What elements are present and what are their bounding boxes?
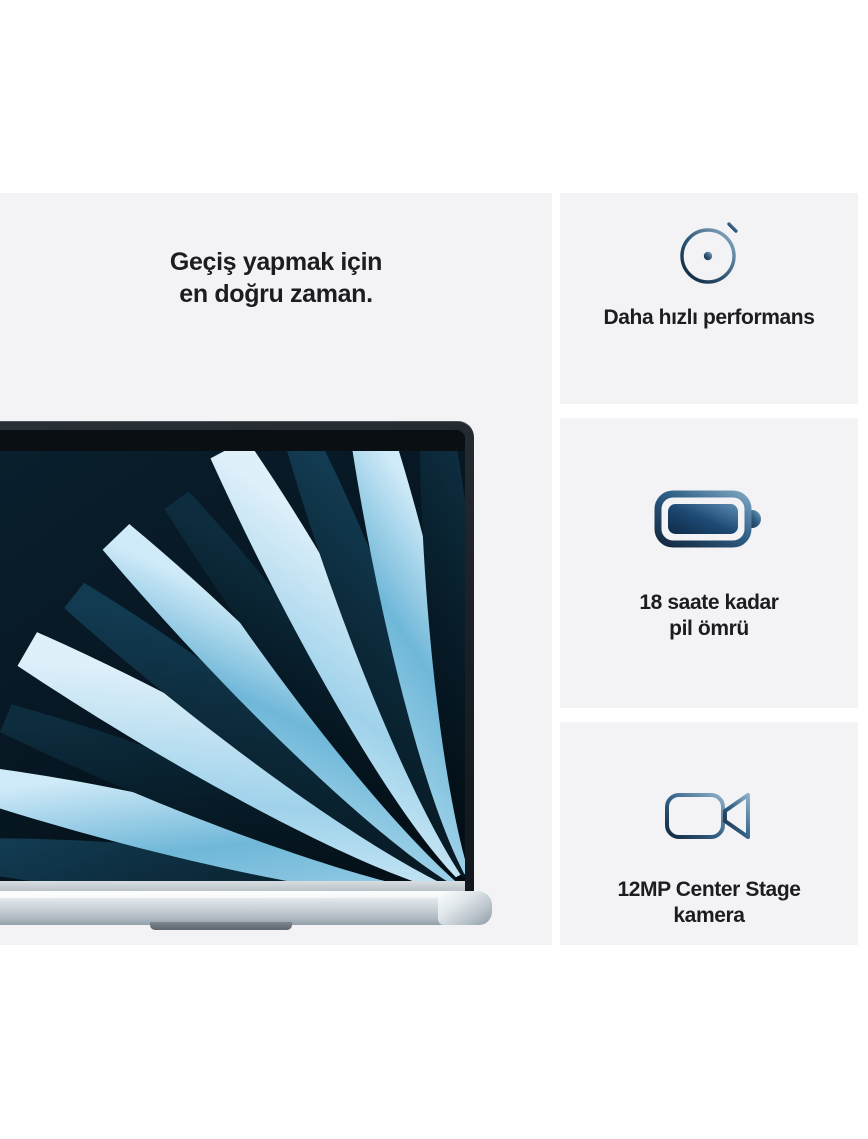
video-camera-icon	[663, 785, 755, 847]
hero-panel: Geçiş yapmak için en doğru zaman.	[0, 193, 552, 945]
feature-icon-wrap	[560, 207, 858, 291]
macbook-base-highlight	[0, 893, 446, 898]
feature-icon-wrap	[560, 474, 858, 564]
feature-label-performance: Daha hızlı performans	[560, 305, 858, 331]
macbook-base-corner	[438, 891, 492, 925]
feature-label-line-1: 12MP Center Stage	[560, 877, 858, 903]
macbook-base	[0, 891, 492, 925]
wallpaper-petal-fan	[0, 430, 465, 883]
camera-housing	[0, 430, 465, 451]
product-feature-page: Geçiş yapmak için en doğru zaman.	[0, 0, 868, 1139]
feature-label-line-2: kamera	[560, 903, 858, 929]
hero-heading-line-2: en doğru zaman.	[0, 278, 552, 311]
feature-label-line-1: 18 saate kadar	[560, 590, 858, 616]
feature-label-line-1: Daha hızlı performans	[560, 305, 858, 331]
macos-wallpaper	[0, 430, 465, 883]
feature-label-camera: 12MP Center Stage kamera	[560, 877, 858, 930]
feature-panel-camera: 12MP Center Stage kamera	[560, 722, 858, 945]
battery-icon	[654, 488, 764, 550]
macbook-display-lid	[0, 421, 474, 907]
macbook-product-image	[0, 421, 528, 945]
macbook-screen	[0, 430, 465, 883]
feature-label-line-2: pil ömrü	[560, 616, 858, 642]
hero-heading: Geçiş yapmak için en doğru zaman.	[0, 246, 552, 311]
feature-panel-battery: 18 saate kadar pil ömrü	[560, 418, 858, 708]
feature-label-battery: 18 saate kadar pil ömrü	[560, 590, 858, 643]
feature-panel-performance: Daha hızlı performans	[560, 193, 858, 404]
hero-heading-line-1: Geçiş yapmak için	[0, 246, 552, 279]
stopwatch-icon	[672, 210, 746, 288]
feature-icon-wrap	[560, 774, 858, 858]
macbook-foot	[150, 922, 292, 930]
